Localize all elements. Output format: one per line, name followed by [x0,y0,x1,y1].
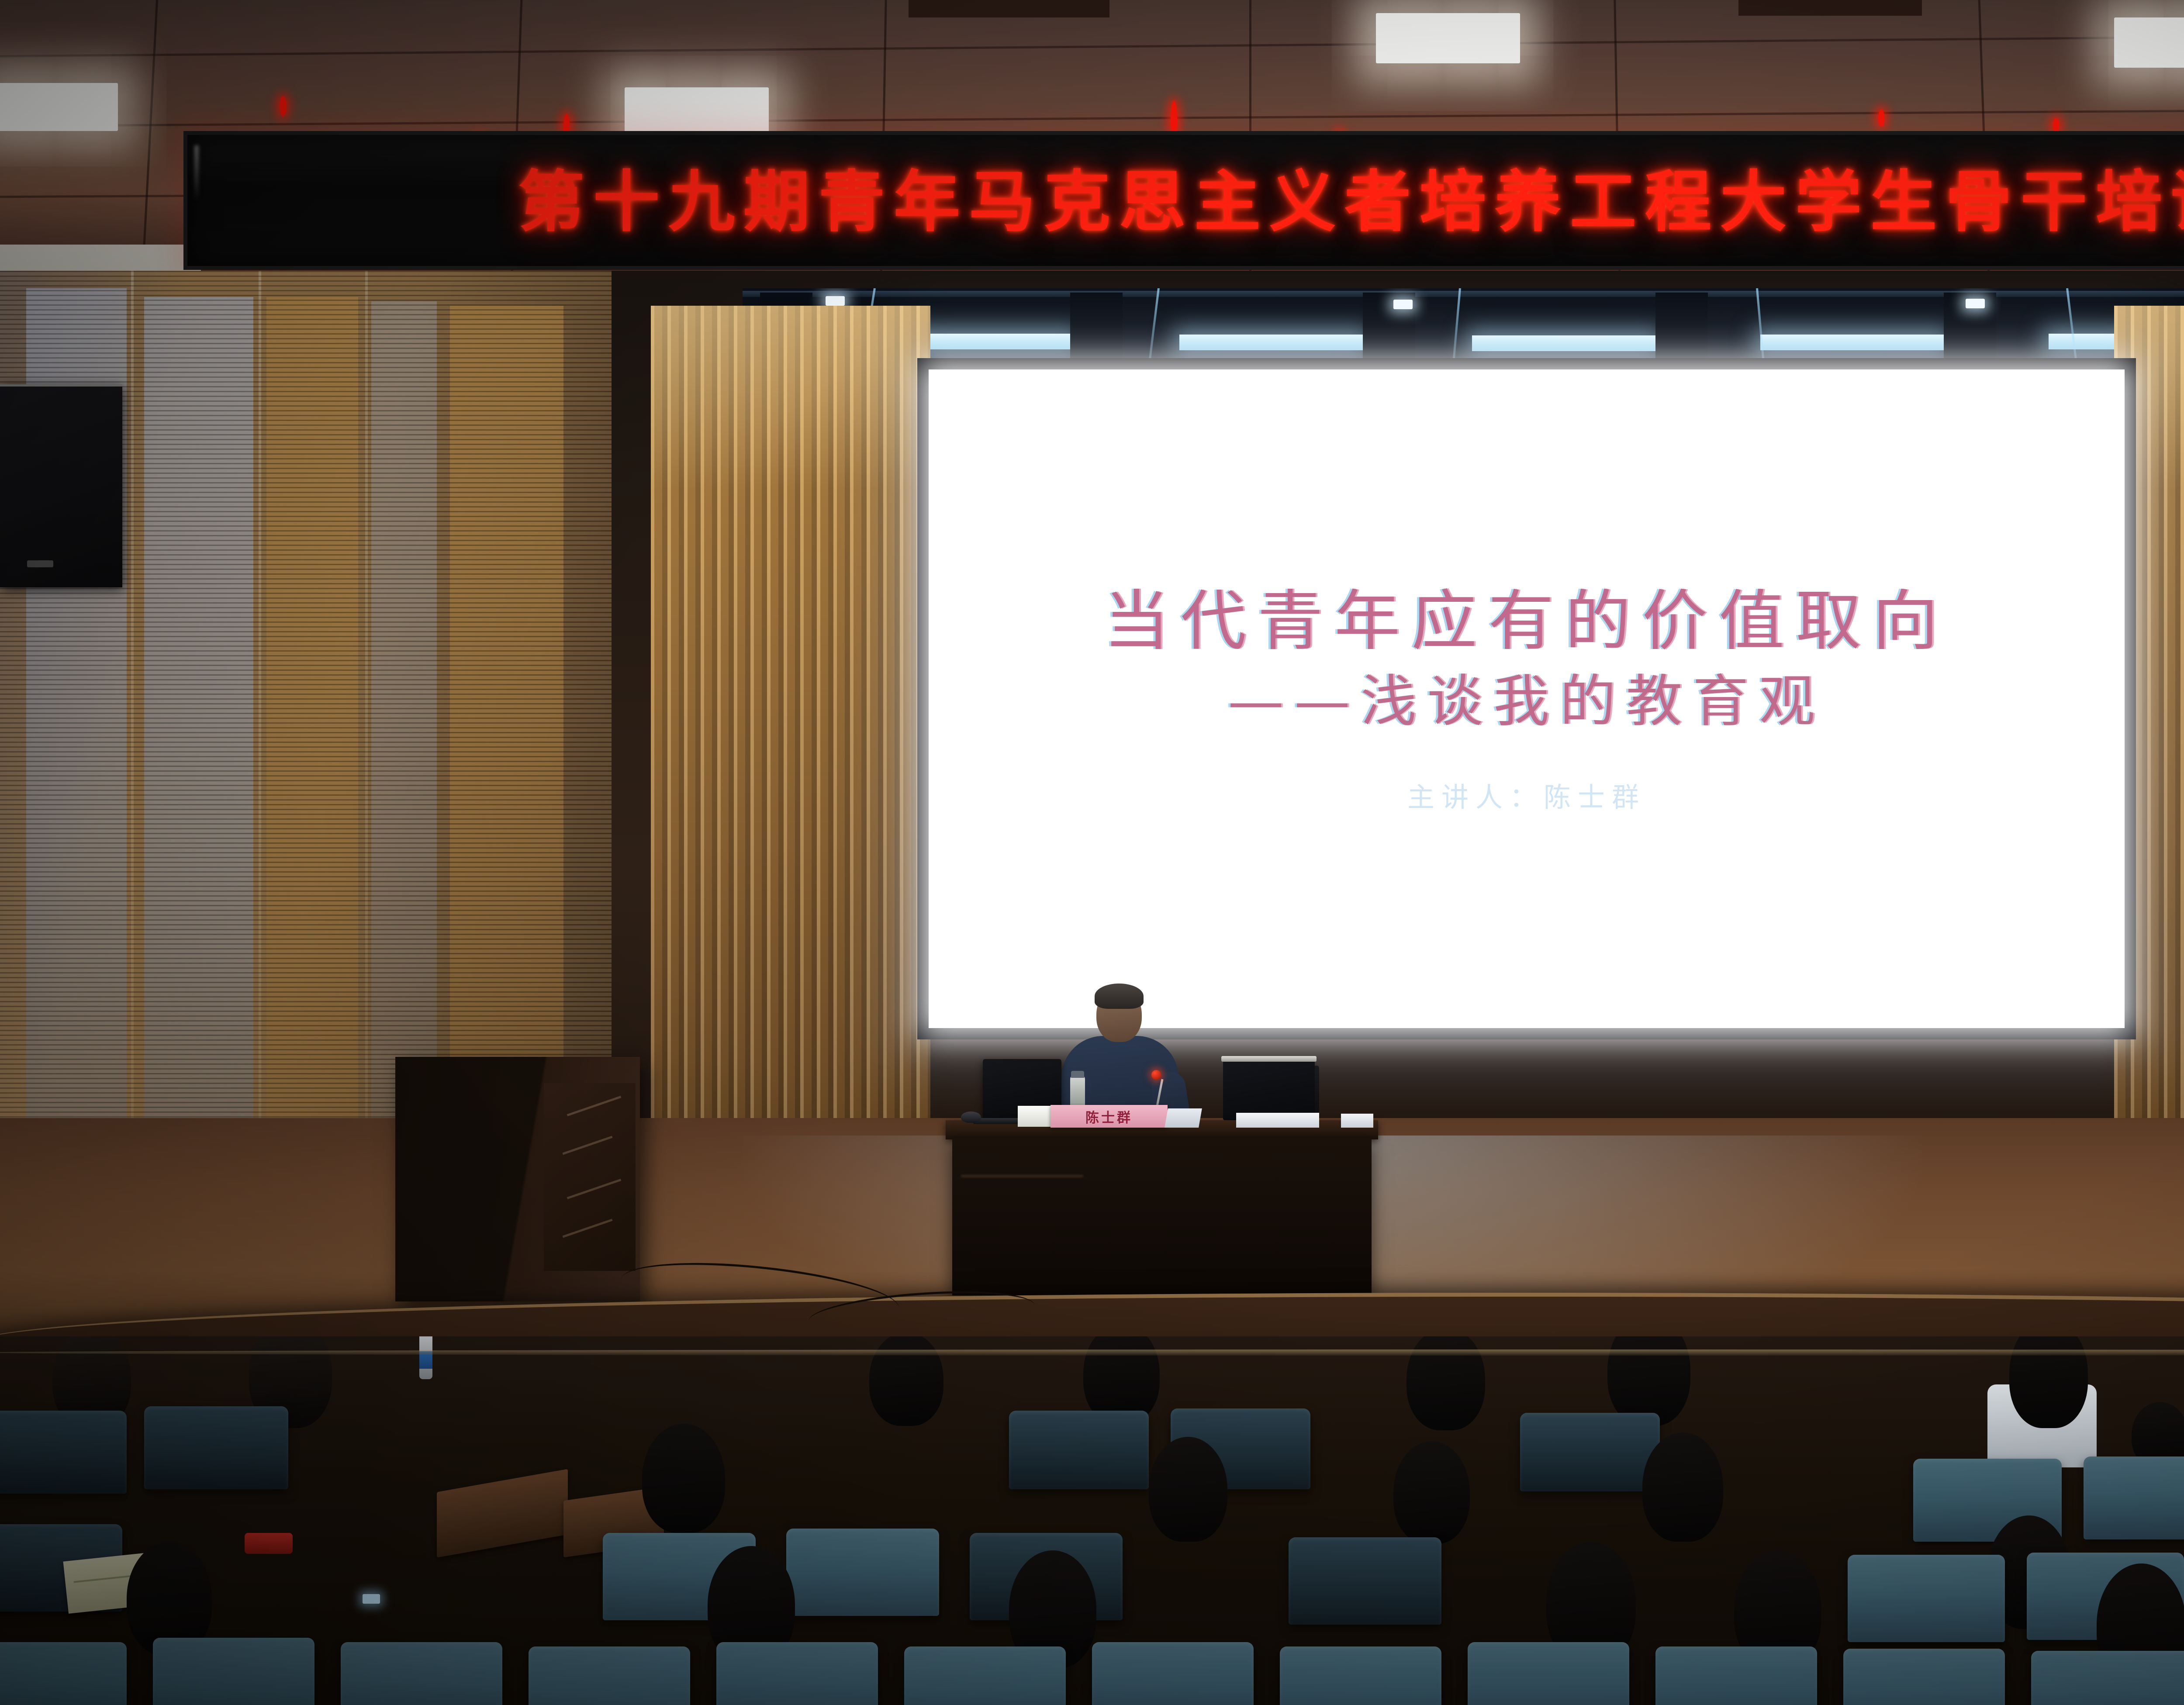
audience-desk [437,1469,568,1558]
audience-seat[interactable] [1843,1649,2005,1705]
paper-right-3 [1341,1114,1373,1128]
microphone-indicator-light [1151,1070,1161,1080]
ceiling-led-reflection [2053,118,2059,133]
presenter-hair [1095,984,1144,1009]
audience-seat[interactable] [786,1529,939,1616]
led-banner: 第十九期青年马克思主义者培养工程大学生骨干培训班专题报告 [183,131,2184,270]
audience-seat[interactable] [1848,1555,2005,1642]
ceiling-light-panel [0,83,118,131]
phone-screen-glow [363,1594,380,1604]
monitor-right-top-edge [1221,1056,1317,1062]
table-glare [961,1175,1083,1177]
water-bottle-cap [1071,1071,1084,1078]
monitor-right [1223,1059,1315,1120]
audience-seat[interactable] [0,1411,127,1494]
podium-front-panel [544,1083,636,1271]
ceiling-led-reflection [280,96,287,116]
stage-curtain-left [651,306,930,1205]
audience-head [1642,1432,1723,1542]
auditorium-scene: 第十九期青年马克思主义者培养工程大学生骨干培训班专题报告 [0,0,2184,1705]
ceiling-led-reflection [1878,109,1884,127]
audience-seat[interactable] [1009,1411,1149,1489]
audience-seat[interactable] [1468,1642,1629,1705]
audience-seat[interactable] [144,1406,288,1489]
slide-content: 当代青年应有的价值取向 ——浅谈我的教育观 主讲人：陈士群 [929,369,2125,1028]
led-banner-text: 第十九期青年马克思主义者培养工程大学生骨干培训班专题报告 [518,169,2184,235]
audience-head [1149,1437,1227,1542]
audience-seat[interactable] [1280,1646,1441,1705]
nameplate: 陈士群 [1051,1105,1168,1128]
slide-subtitle: ——浅谈我的教育观 [1228,668,1825,735]
audience-area [0,1336,2184,1705]
red-object-on-desk [245,1533,293,1554]
slide-presenter: 主讲人：陈士群 [1407,775,1646,815]
ceiling-light-panel [1376,13,1520,63]
audience-head [1393,1441,1470,1544]
ceiling-light-panel [2114,17,2184,68]
podium [395,1057,640,1301]
speaker-logo [27,560,53,567]
audience-seat[interactable] [0,1642,127,1705]
audience-seat[interactable] [904,1646,1066,1705]
wall-speaker-left [0,384,122,587]
projection-screen: 当代青年应有的价值取向 ——浅谈我的教育观 主讲人：陈士群 [917,358,2136,1039]
slide-title: 当代青年应有的价值取向 [1104,583,1949,660]
audience-seat[interactable] [716,1642,878,1705]
truss-lamp [1393,300,1413,309]
audience-seat[interactable] [341,1642,502,1705]
audience-seat[interactable] [153,1638,314,1705]
audience-seat[interactable] [1289,1537,1441,1625]
truss-lamp [826,296,845,306]
truss-lamp [1966,299,1985,308]
nameplate-text: 陈士群 [1085,1107,1133,1126]
audience-seat[interactable] [2031,1651,2184,1705]
audience-head [642,1424,725,1533]
mouse [961,1111,981,1123]
paper-right [1165,1108,1202,1128]
speaker-table-body [952,1138,1372,1295]
paper-left [1018,1106,1054,1127]
audience-seat[interactable] [1520,1413,1660,1491]
paper-right-2 [1236,1113,1319,1128]
audience-seat[interactable] [2084,1456,2184,1539]
audience-seat[interactable] [1655,1646,1817,1705]
audience-seat[interactable] [1092,1642,1254,1705]
audience-seat[interactable] [529,1646,690,1705]
